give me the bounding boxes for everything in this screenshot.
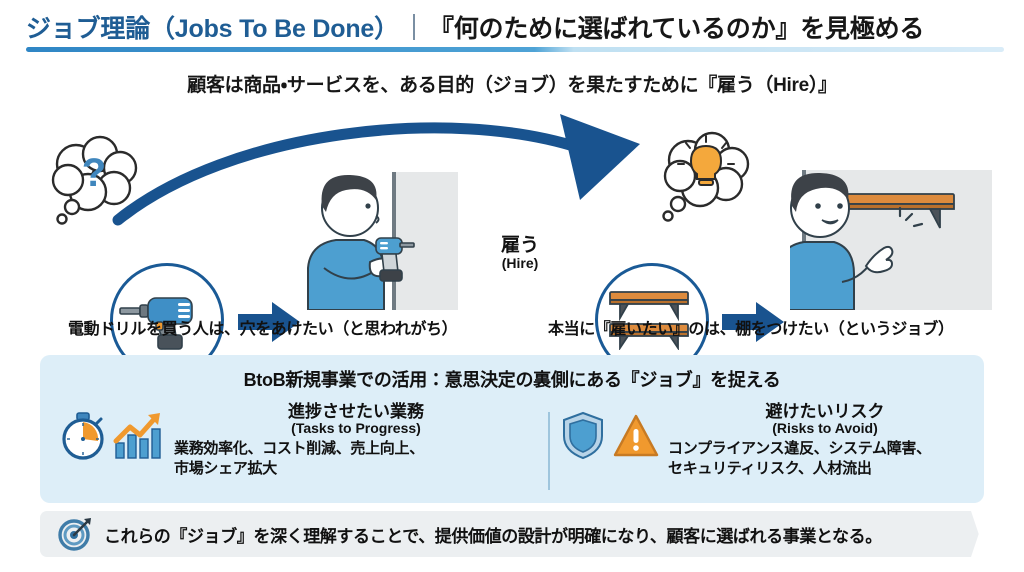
summary-bar-notch <box>971 511 985 557</box>
lightbulb-thought-bubble-icon <box>648 128 768 233</box>
tasks-body: 業務効率化、コスト削減、売上向上、 市場シェア拡大 <box>172 439 540 479</box>
summary-text: これらの『ジョブ』を深く理解することで、提供価値の設計が明確になり、顧客に選ばれ… <box>104 522 882 547</box>
panel-column-risks: 避けたいリスク (Risks to Avoid) コンプライアンス違反、システム… <box>562 403 982 479</box>
question-thought-bubble-icon: ? <box>38 130 158 235</box>
panel-column-divider <box>548 412 550 490</box>
risks-title: 避けたいリスク (Risks to Avoid) <box>668 403 982 436</box>
hire-label-en: (Hire) <box>455 256 585 272</box>
page-title: ジョブ理論（Jobs To Be Done） 『何のために選ばれているのか』を見… <box>26 8 1006 46</box>
shield-icon <box>562 411 606 461</box>
fundamental-purpose-note: 本当に『雇いたい』のは、棚をつけたい（というジョブ） <box>548 315 954 339</box>
risks-title-en: (Risks to Avoid) <box>668 421 982 436</box>
svg-text:?: ? <box>82 151 106 195</box>
person-drilling-wall-icon <box>288 160 458 310</box>
warning-triangle-icon <box>612 411 660 461</box>
panel-column-tasks: 進捗させたい業務 (Tasks to Progress) 業務効率化、コスト削減… <box>60 403 540 479</box>
tasks-title-en: (Tasks to Progress) <box>172 421 540 436</box>
target-bullseye-icon <box>58 517 92 551</box>
panel-heading: BtoB新規事業での活用：意思決定の裏側にある『ジョブ』を捉える <box>40 366 984 392</box>
btob-application-panel: BtoB新規事業での活用：意思決定の裏側にある『ジョブ』を捉える <box>40 355 984 503</box>
lead-sentence: 顧客は商品・サービスを、ある目的（ジョブ）を果たすために『雇う（Hire）』 <box>0 70 1024 97</box>
summary-bar: これらの『ジョブ』を深く理解することで、提供価値の設計が明確になり、顧客に選ばれ… <box>40 511 984 557</box>
title-sub-text: 『何のために選ばれているのか』を見極める <box>429 9 924 45</box>
risks-text-block: 避けたいリスク (Risks to Avoid) コンプライアンス違反、システム… <box>668 403 982 479</box>
tasks-text-block: 進捗させたい業務 (Tasks to Progress) 業務効率化、コスト削減… <box>172 403 540 479</box>
tasks-body-line2: 市場シェア拡大 <box>174 459 540 479</box>
person-pointing-at-shelf-icon <box>790 158 996 310</box>
tasks-title: 進捗させたい業務 (Tasks to Progress) <box>172 403 540 436</box>
risks-icon-group <box>562 403 660 461</box>
title-main-text: ジョブ理論（Jobs To Be Done） <box>26 9 399 45</box>
risks-body-line2: セキュリティリスク、人材流出 <box>668 459 982 479</box>
slide-root: ジョブ理論（Jobs To Be Done） 『何のために選ばれているのか』を見… <box>0 0 1024 572</box>
title-underline-rule <box>26 47 1004 52</box>
title-separator <box>413 14 415 40</box>
growth-bar-chart-icon <box>112 411 164 461</box>
tasks-icon-group <box>60 403 164 461</box>
hire-label-jp: 雇う <box>455 235 585 256</box>
risks-body-line1: コンプライアンス違反、システム障害、 <box>668 439 982 459</box>
diagram-stage: 雇う (Hire) ? <box>0 100 1024 345</box>
hire-label: 雇う (Hire) <box>455 235 585 272</box>
surface-need-note: 電動ドリルを買う人は、穴をあけたい（と思われがち） <box>68 315 457 339</box>
risks-title-jp: 避けたいリスク <box>668 403 982 421</box>
risks-body: コンプライアンス違反、システム障害、 セキュリティリスク、人材流出 <box>668 439 982 479</box>
tasks-body-line1: 業務効率化、コスト削減、売上向上、 <box>174 439 540 459</box>
tasks-title-jp: 進捗させたい業務 <box>172 403 540 421</box>
stopwatch-icon <box>60 411 106 461</box>
